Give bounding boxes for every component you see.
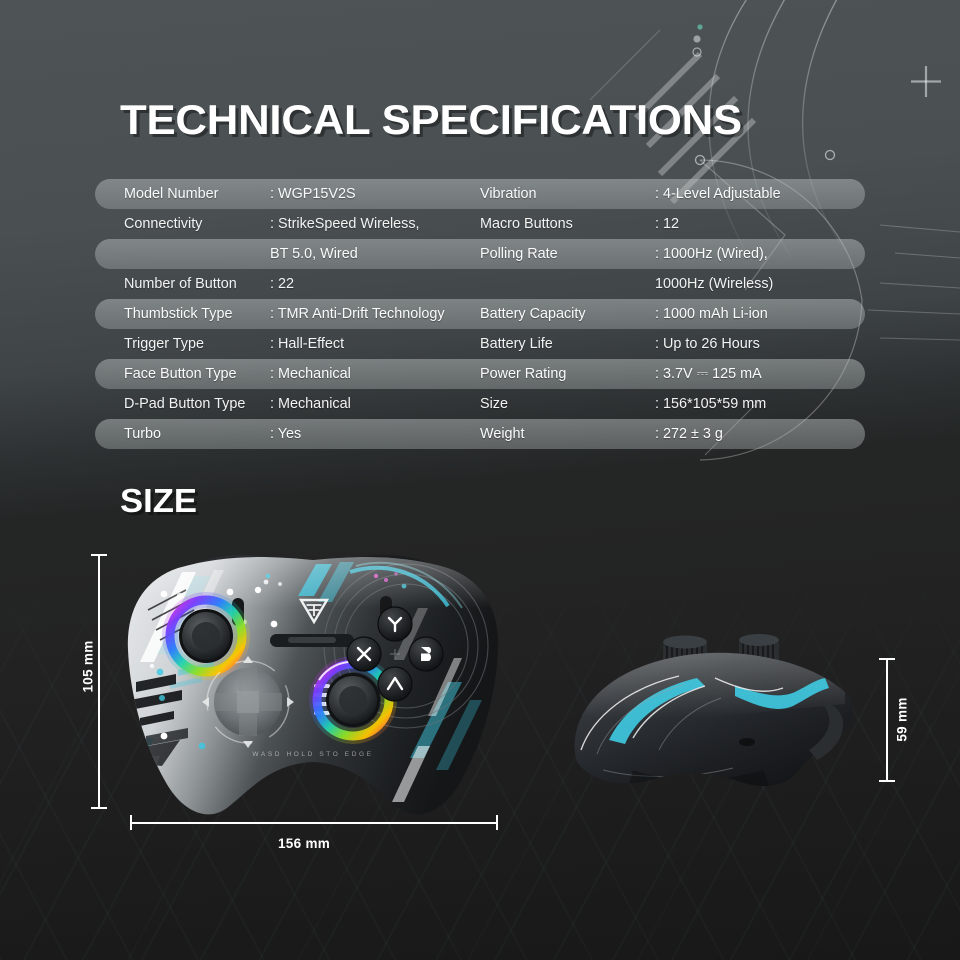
spec-value-left-text: BT 5.0, Wired: [270, 247, 358, 261]
dimension-label-depth: 59 mm: [895, 697, 910, 741]
dimension-line-height: [98, 554, 100, 808]
table-row: D-Pad Button Type: MechanicalSize: 156*1…: [95, 389, 865, 419]
dimension-cap-height-top: [91, 554, 107, 556]
controller-microtext: WASD HOLD STO EDGE: [252, 751, 373, 758]
dimension-line-depth: [886, 658, 888, 781]
spec-value-right: 1000Hz (Wireless): [655, 269, 860, 299]
spec-label-left-text: Turbo: [124, 427, 161, 441]
spec-label-right-text: Battery Capacity: [480, 307, 586, 321]
product-spec-page: TECHNICAL SPECIFICATIONS SIZE Model Numb…: [0, 0, 960, 960]
spec-label-left-text: Face Button Type: [124, 367, 237, 381]
spec-label-right-text: Size: [480, 397, 508, 411]
spec-value-right: : 1000 mAh Li-ion: [655, 299, 860, 329]
spec-value-right: : Up to 26 Hours: [655, 329, 860, 359]
dimension-label-height: 105 mm: [81, 640, 96, 692]
dimension-cap-height-bottom: [91, 807, 107, 809]
spec-label-left: [95, 239, 270, 269]
spec-label-right: [480, 269, 655, 299]
spec-value-right-text: : 4-Level Adjustable: [655, 187, 781, 201]
spec-value-right-text: : 1000Hz (Wired),: [655, 247, 768, 261]
table-row: Turbo: YesWeight: 272 ± 3 g: [95, 419, 865, 449]
decor-speed-lines: [868, 225, 960, 340]
dimension-cap-depth-top: [879, 658, 895, 660]
spec-value-right: : 272 ± 3 g: [655, 419, 860, 449]
spec-value-right-text: 1000Hz (Wireless): [655, 277, 773, 291]
face-button-a: [378, 667, 412, 701]
spec-value-left: : WGP15V2S: [270, 179, 480, 209]
dimension-cap-depth-bottom: [879, 780, 895, 782]
spec-value-left-text: : TMR Anti-Drift Technology: [270, 307, 445, 321]
spec-value-left: : StrikeSpeed Wireless,: [270, 209, 480, 239]
spec-label-left-text: Thumbstick Type: [124, 307, 233, 321]
face-button-b: [409, 637, 443, 671]
spec-label-right-text: Macro Buttons: [480, 217, 573, 231]
spec-label-right-text: Battery Life: [480, 337, 553, 351]
spec-label-right-text: Power Rating: [480, 367, 566, 381]
spec-value-left-text: : WGP15V2S: [270, 187, 356, 201]
spec-label-right: Weight: [480, 419, 655, 449]
page-title-technical-specifications: TECHNICAL SPECIFICATIONS: [120, 99, 742, 141]
thumbstick-left: [170, 600, 242, 672]
plus-icon: [911, 66, 941, 97]
page-title-size: SIZE: [120, 484, 197, 517]
spec-value-right: : 156*105*59 mm: [655, 389, 860, 419]
decor-thin-diagonal: [590, 30, 660, 100]
spec-label-right: Battery Capacity: [480, 299, 655, 329]
spec-value-left-text: : 22: [270, 277, 294, 291]
spec-value-left: : TMR Anti-Drift Technology: [270, 299, 480, 329]
spec-label-right-text: Vibration: [480, 187, 537, 201]
dimension-label-width: 156 mm: [278, 836, 330, 851]
spec-label-left: Trigger Type: [95, 329, 270, 359]
spec-label-left: Face Button Type: [95, 359, 270, 389]
spec-label-right-text: Polling Rate: [480, 247, 558, 261]
spec-label-left: Connectivity: [95, 209, 270, 239]
spec-value-right: : 4-Level Adjustable: [655, 179, 860, 209]
spec-label-left-text: Number of Button: [124, 277, 237, 291]
spec-label-left-text: Connectivity: [124, 217, 202, 231]
spec-label-left: Thumbstick Type: [95, 299, 270, 329]
spec-value-right-text: : Up to 26 Hours: [655, 337, 760, 351]
spec-value-right-text: : 272 ± 3 g: [655, 427, 723, 441]
spec-label-left: D-Pad Button Type: [95, 389, 270, 419]
size-diagram: 105 mm 156 mm 59 mm: [0, 520, 960, 960]
spec-value-right-text: : 156*105*59 mm: [655, 397, 766, 411]
spec-label-right: Power Rating: [480, 359, 655, 389]
spec-label-left-text: Trigger Type: [124, 337, 204, 351]
spec-value-left: : 22: [270, 269, 480, 299]
spec-value-left-text: : Yes: [270, 427, 301, 441]
table-row: Model Number: WGP15V2SVibration: 4-Level…: [95, 179, 865, 209]
spec-label-right: Polling Rate: [480, 239, 655, 269]
controller-side-view: [563, 630, 863, 810]
spec-value-left: : Yes: [270, 419, 480, 449]
spec-label-left: Turbo: [95, 419, 270, 449]
table-row: Thumbstick Type: TMR Anti-Drift Technolo…: [95, 299, 865, 329]
spec-value-right-text: : 1000 mAh Li-ion: [655, 307, 768, 321]
specifications-table: Model Number: WGP15V2SVibration: 4-Level…: [95, 179, 865, 449]
spec-value-right: : 3.7V ⎓ 125 mA: [655, 359, 860, 389]
table-row: Number of Button: 221000Hz (Wireless): [95, 269, 865, 299]
spec-label-right: Size: [480, 389, 655, 419]
spec-value-right-text: : 12: [655, 217, 679, 231]
spec-value-right: : 12: [655, 209, 860, 239]
table-row: Connectivity: StrikeSpeed Wireless,Macro…: [95, 209, 865, 239]
spec-label-right: Vibration: [480, 179, 655, 209]
spec-value-right: : 1000Hz (Wired),: [655, 239, 860, 269]
table-row: Face Button Type: MechanicalPower Rating…: [95, 359, 865, 389]
spec-label-right: Macro Buttons: [480, 209, 655, 239]
table-row: Trigger Type: Hall-EffectBattery Life: U…: [95, 329, 865, 359]
controller-front-view: WASD HOLD STO EDGE: [118, 550, 508, 830]
spec-value-left-text: : Mechanical: [270, 367, 351, 381]
decor-small-circles: [693, 24, 835, 164]
spec-label-right-text: Weight: [480, 427, 525, 441]
face-button-x: [347, 637, 381, 671]
spec-label-left: Model Number: [95, 179, 270, 209]
spec-value-left: : Mechanical: [270, 359, 480, 389]
spec-value-left-text: : StrikeSpeed Wireless,: [270, 217, 420, 231]
spec-value-left: BT 5.0, Wired: [270, 239, 480, 269]
spec-label-right: Battery Life: [480, 329, 655, 359]
spec-value-left: : Hall-Effect: [270, 329, 480, 359]
spec-label-left-text: D-Pad Button Type: [124, 397, 245, 411]
table-row: BT 5.0, WiredPolling Rate: 1000Hz (Wired…: [95, 239, 865, 269]
spec-value-left-text: : Mechanical: [270, 397, 351, 411]
spec-value-left: : Mechanical: [270, 389, 480, 419]
spec-label-left-text: Model Number: [124, 187, 218, 201]
spec-value-right-text: : 3.7V ⎓ 125 mA: [655, 367, 762, 381]
spec-label-left: Number of Button: [95, 269, 270, 299]
spec-value-left-text: : Hall-Effect: [270, 337, 344, 351]
face-button-y: [378, 607, 412, 641]
